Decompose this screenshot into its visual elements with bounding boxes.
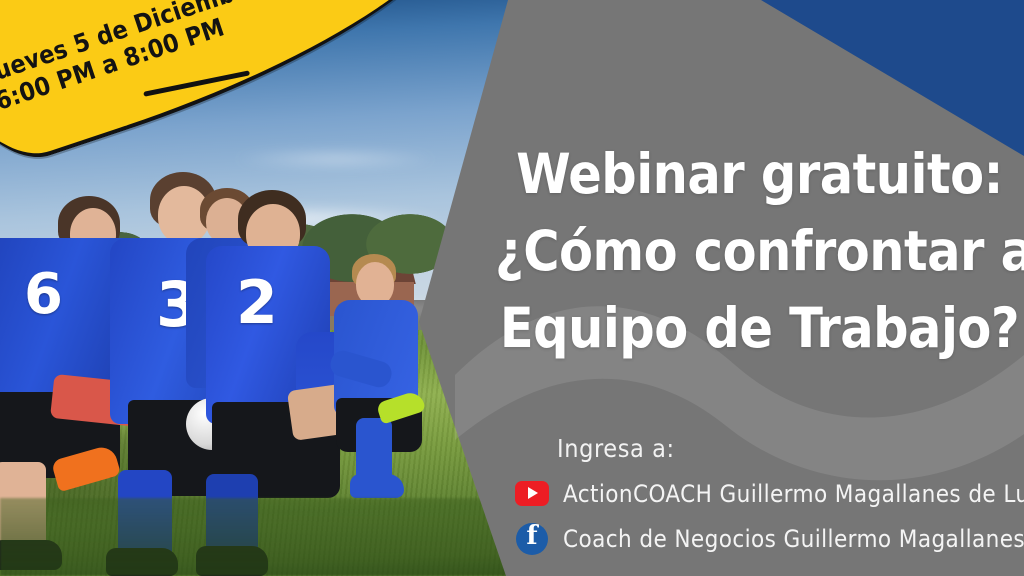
- social-row-youtube[interactable]: ActionCOACH Guillermo Magallanes de Luna: [511, 474, 1024, 513]
- facebook-page-label: Coach de Negocios Guillermo Magallanes: [563, 525, 1024, 553]
- cloud-wisp: [230, 150, 440, 168]
- webinar-promo-poster: 6 3 2: [0, 0, 1024, 576]
- webinar-title: Webinar gratuito: ¿Cómo confrontar al Eq…: [495, 136, 1024, 367]
- cta-heading: Ingresa a:: [557, 434, 675, 463]
- facebook-glyph: f: [516, 521, 548, 551]
- social-row-facebook[interactable]: f Coach de Negocios Guillermo Magallanes: [511, 519, 1024, 558]
- youtube-channel-label: ActionCOACH Guillermo Magallanes de Luna: [563, 480, 1024, 508]
- panel-content: Webinar gratuito: ¿Cómo confrontar al Eq…: [495, 0, 1024, 576]
- youtube-icon[interactable]: [511, 478, 551, 510]
- social-channel-list: ActionCOACH Guillermo Magallanes de Luna…: [511, 474, 1024, 564]
- foreground-grass-texture: [0, 498, 520, 576]
- title-line-2: ¿Cómo confrontar al: [495, 213, 1024, 290]
- title-line-3: Equipo de Trabajo?: [495, 290, 1024, 367]
- title-line-1: Webinar gratuito:: [495, 136, 1024, 213]
- facebook-icon[interactable]: f: [511, 523, 551, 555]
